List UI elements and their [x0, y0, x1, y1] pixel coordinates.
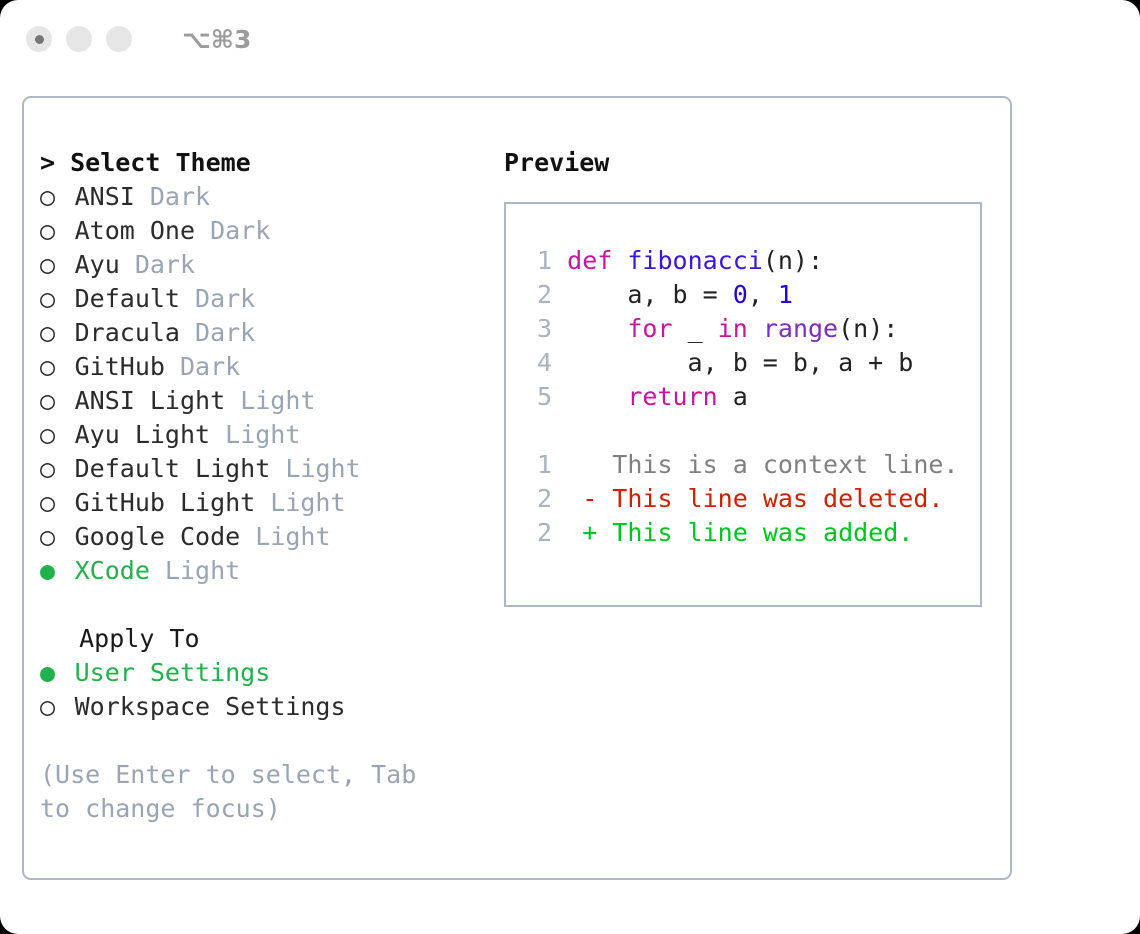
diff-sample: 1 This is a context line.2 - This line w…	[522, 448, 980, 550]
help-text: (Use Enter to select, Tab to change focu…	[40, 758, 440, 826]
radio-unselected-icon: ○	[40, 690, 60, 724]
apply-to-item[interactable]: ● User Settings	[40, 656, 486, 690]
code-token-plain	[552, 382, 627, 411]
diff-sign	[552, 450, 597, 479]
radio-unselected-icon: ○	[40, 520, 60, 554]
window-dot-second[interactable]	[66, 26, 92, 52]
diff-line: 2 - This line was deleted.	[522, 482, 980, 516]
main-panel: > Select Theme ○ ANSI Dark○ Atom One Dar…	[22, 96, 1012, 880]
theme-list-item[interactable]: ○ Google Code Light	[40, 520, 486, 554]
title-bar: ⌥⌘3	[0, 0, 1140, 78]
theme-variant-badge: Dark	[195, 318, 255, 347]
line-number: 4	[522, 346, 552, 380]
code-line: 1 def fibonacci(n):	[522, 244, 980, 278]
apply-to-item[interactable]: ○ Workspace Settings	[40, 690, 486, 724]
theme-variant-badge: Light	[165, 556, 240, 585]
radio-unselected-icon: ○	[40, 350, 60, 384]
code-token-plain	[552, 314, 627, 343]
line-number: 2	[522, 278, 552, 312]
theme-name: GitHub Light	[60, 488, 271, 517]
diff-line: 1 This is a context line.	[522, 448, 980, 482]
theme-list-item[interactable]: ○ Default Light Light	[40, 452, 486, 486]
theme-name: Default Light	[60, 454, 286, 483]
code-token-num: 0	[733, 280, 748, 309]
code-token-plain: (n):	[838, 314, 898, 343]
theme-name: Dracula	[60, 318, 195, 347]
code-token-plain: a, b =	[552, 280, 733, 309]
apply-to-list[interactable]: ● User Settings○ Workspace Settings	[40, 656, 486, 724]
radio-unselected-icon: ○	[40, 452, 60, 486]
theme-list-item[interactable]: ○ Dracula Dark	[40, 316, 486, 350]
theme-variant-badge: Light	[285, 454, 360, 483]
theme-variant-badge: Dark	[210, 216, 270, 245]
window-dot-active[interactable]	[26, 26, 52, 52]
theme-variant-badge: Dark	[195, 284, 255, 313]
preview-gap	[522, 414, 980, 448]
theme-variant-badge: Dark	[150, 182, 210, 211]
code-token-num: 1	[778, 280, 793, 309]
radio-unselected-icon: ○	[40, 282, 60, 316]
theme-list-item[interactable]: ○ Ayu Light Light	[40, 418, 486, 452]
diff-line-number: 1	[522, 448, 552, 482]
theme-variant-badge: Light	[225, 420, 300, 449]
apply-to-heading: Apply To	[40, 622, 486, 656]
window-dot-third[interactable]	[106, 26, 132, 52]
diff-text: This line was added.	[597, 518, 913, 547]
theme-name: ANSI Light	[60, 386, 241, 415]
code-token-plain: _	[673, 314, 718, 343]
code-token-kw: def	[552, 246, 627, 275]
theme-list[interactable]: ○ ANSI Dark○ Atom One Dark○ Ayu Dark○ De…	[40, 180, 486, 588]
theme-selector-column: > Select Theme ○ ANSI Dark○ Atom One Dar…	[24, 98, 486, 878]
diff-text: This line was deleted.	[597, 484, 943, 513]
code-token-plain: a, b = b, a + b	[552, 348, 913, 377]
theme-variant-badge: Dark	[135, 250, 195, 279]
code-token-fn: fibonacci	[627, 246, 762, 275]
theme-variant-badge: Light	[240, 386, 315, 415]
code-line: 3 for _ in range(n):	[522, 312, 980, 346]
theme-list-item[interactable]: ○ GitHub Light Light	[40, 486, 486, 520]
theme-variant-badge: Light	[255, 522, 330, 551]
select-theme-heading: > Select Theme	[40, 146, 486, 180]
code-token-plain: (n):	[763, 246, 823, 275]
theme-name: Ayu Light	[60, 420, 226, 449]
theme-name: Ayu	[60, 250, 135, 279]
diff-line-number: 2	[522, 516, 552, 550]
theme-variant-badge: Light	[270, 488, 345, 517]
code-sample: 1 def fibonacci(n):2 a, b = 0, 13 for _ …	[522, 244, 980, 414]
apply-to-label: Workspace Settings	[60, 692, 346, 721]
apply-to-label: User Settings	[60, 658, 271, 687]
keyboard-shortcut-label: ⌥⌘3	[182, 25, 251, 54]
theme-variant-badge: Dark	[180, 352, 240, 381]
active-indicator-dot	[35, 35, 44, 44]
theme-list-item[interactable]: ○ Ayu Dark	[40, 248, 486, 282]
radio-selected-icon: ●	[40, 656, 60, 690]
radio-unselected-icon: ○	[40, 180, 60, 214]
theme-name: XCode	[60, 556, 165, 585]
code-line: 4 a, b = b, a + b	[522, 346, 980, 380]
app-window: ⌥⌘3 > Select Theme ○ ANSI Dark○ Atom One…	[0, 0, 1140, 934]
code-line: 2 a, b = 0, 1	[522, 278, 980, 312]
theme-list-item[interactable]: ● XCode Light	[40, 554, 486, 588]
code-token-plain: ,	[748, 280, 778, 309]
theme-name: Default	[60, 284, 195, 313]
code-token-kw: for	[627, 314, 672, 343]
theme-list-item[interactable]: ○ GitHub Dark	[40, 350, 486, 384]
radio-unselected-icon: ○	[40, 486, 60, 520]
code-token-plain: a	[718, 382, 748, 411]
line-number: 5	[522, 380, 552, 414]
theme-list-item[interactable]: ○ ANSI Dark	[40, 180, 486, 214]
preview-column: Preview 1 def fibonacci(n):2 a, b = 0, 1…	[486, 98, 1010, 878]
radio-unselected-icon: ○	[40, 418, 60, 452]
theme-name: Atom One	[60, 216, 211, 245]
theme-name: Google Code	[60, 522, 256, 551]
diff-text: This is a context line.	[597, 450, 958, 479]
theme-list-item[interactable]: ○ Default Dark	[40, 282, 486, 316]
radio-unselected-icon: ○	[40, 316, 60, 350]
diff-sign: -	[552, 484, 597, 513]
radio-selected-icon: ●	[40, 554, 60, 588]
radio-unselected-icon: ○	[40, 384, 60, 418]
preview-box: 1 def fibonacci(n):2 a, b = 0, 13 for _ …	[504, 202, 982, 607]
theme-list-item[interactable]: ○ Atom One Dark	[40, 214, 486, 248]
theme-name: ANSI	[60, 182, 150, 211]
theme-list-item[interactable]: ○ ANSI Light Light	[40, 384, 486, 418]
preview-heading: Preview	[504, 146, 1010, 180]
diff-line-number: 2	[522, 482, 552, 516]
line-number: 1	[522, 244, 552, 278]
code-token-cls: range	[763, 314, 838, 343]
code-token-kw: in	[718, 314, 748, 343]
theme-name: GitHub	[60, 352, 180, 381]
code-token-plain	[748, 314, 763, 343]
radio-unselected-icon: ○	[40, 248, 60, 282]
list-spacer	[40, 588, 486, 622]
line-number: 3	[522, 312, 552, 346]
radio-unselected-icon: ○	[40, 214, 60, 248]
code-line: 5 return a	[522, 380, 980, 414]
code-token-kw: return	[627, 382, 717, 411]
diff-line: 2 + This line was added.	[522, 516, 980, 550]
diff-sign: +	[552, 518, 597, 547]
